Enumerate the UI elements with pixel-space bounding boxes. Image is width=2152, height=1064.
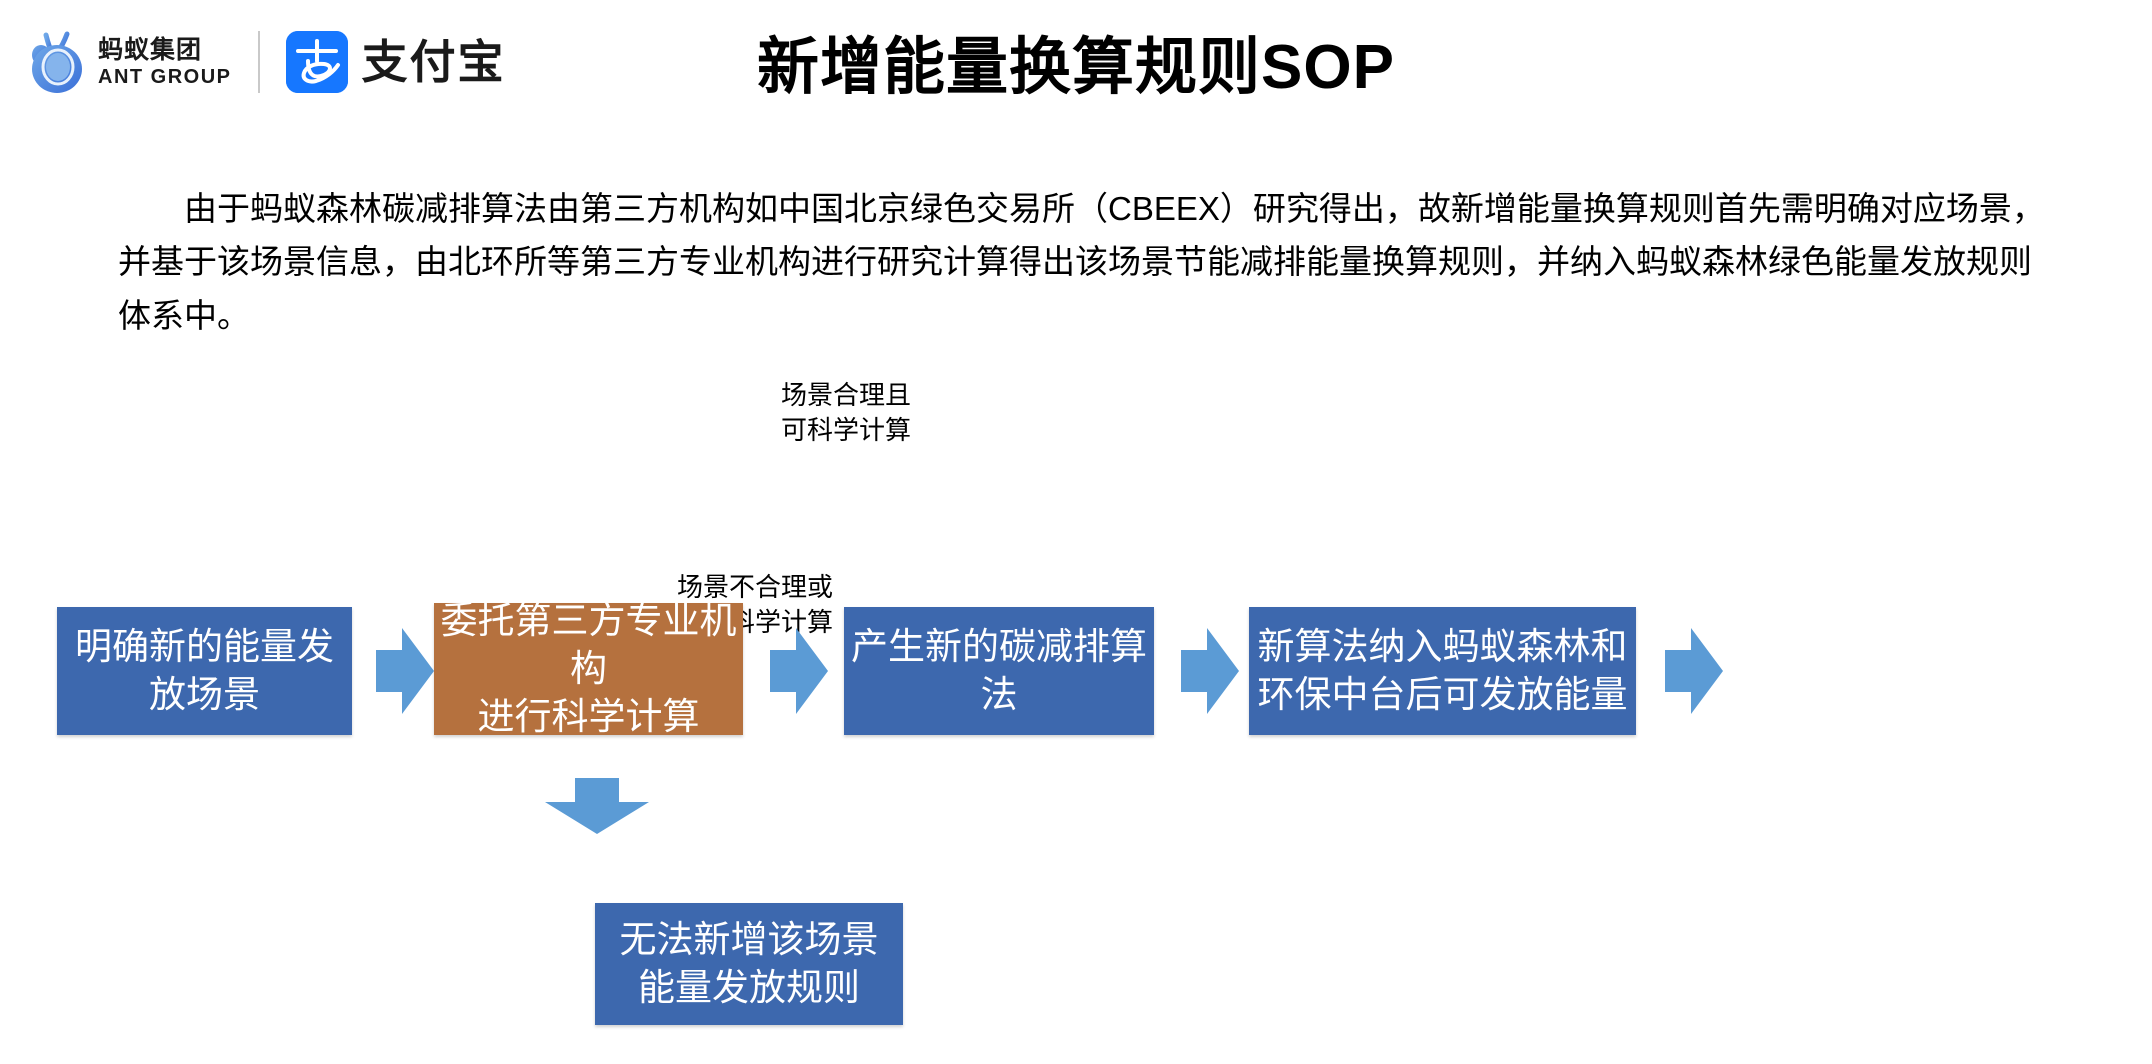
flow-node-4-line1: 新算法纳入蚂蚁森林和 [1258, 626, 1628, 667]
flow-node-integrate-and-release[interactable]: 新算法纳入蚂蚁森林和 环保中台后可发放能量 [1249, 607, 1636, 735]
flow-node-new-carbon-algorithm[interactable]: 产生新的碳减排算法 [844, 607, 1154, 735]
flow-node-1-label: 明确新的能量发放场景 [57, 623, 352, 719]
flow-node-cannot-add-scenario[interactable]: 无法新增该场景 能量发放规则 [595, 903, 903, 1025]
flow-node-5-line1: 无法新增该场景 [620, 919, 879, 960]
edge-label-condition-yes: 场景合理且 可科学计算 [751, 378, 941, 448]
edge-label-yes-line2: 可科学计算 [751, 413, 941, 448]
flow-node-2-line2: 进行科学计算 [478, 696, 700, 737]
flow-node-4-label: 新算法纳入蚂蚁森林和 环保中台后可发放能量 [1258, 623, 1628, 719]
arrow-right-icon [376, 628, 434, 714]
flow-node-5-label: 无法新增该场景 能量发放规则 [620, 916, 879, 1012]
flow-node-5-line2: 能量发放规则 [638, 967, 860, 1008]
arrow-right-icon [1665, 628, 1723, 714]
arrow-right-icon [1181, 628, 1239, 714]
flow-node-3-label: 产生新的碳减排算法 [844, 623, 1154, 719]
flow-node-2-label: 委托第三方专业机构 进行科学计算 [434, 597, 743, 741]
flow-node-third-party-calculation[interactable]: 委托第三方专业机构 进行科学计算 [434, 603, 743, 735]
flow-node-4-line2: 环保中台后可发放能量 [1258, 674, 1628, 715]
flow-node-2-line1: 委托第三方专业机构 [441, 600, 737, 689]
process-flow-diagram: 场景合理且 可科学计算 场景不合理或 不可科学计算 明确新的能量发放场景 委托第… [0, 0, 2152, 1064]
arrow-down-icon [545, 778, 649, 834]
edge-label-yes-line1: 场景合理且 [751, 378, 941, 413]
flow-node-define-scenario[interactable]: 明确新的能量发放场景 [57, 607, 352, 735]
arrow-right-icon [770, 628, 828, 714]
